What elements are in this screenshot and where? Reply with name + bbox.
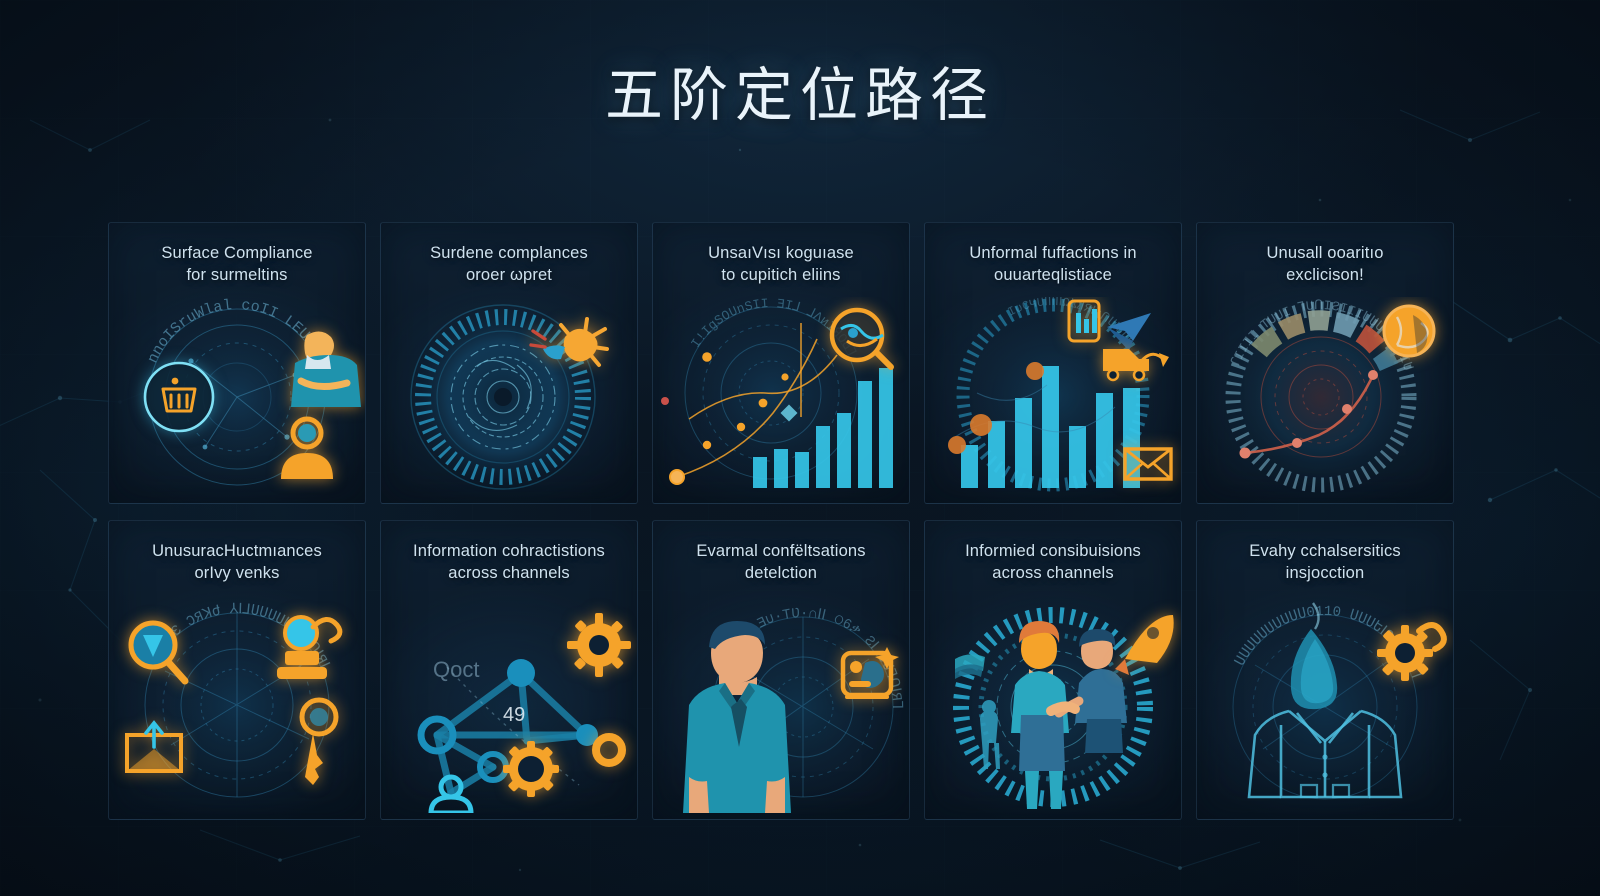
card-title-line2: oroer ωpret	[391, 265, 627, 287]
card-title-line1: UnusuracHuctmıances	[119, 541, 355, 563]
card-evarmal-confeltsations[interactable]: Evarmal confëltsations detelction	[652, 520, 910, 820]
card-art-person-radar-badge: Ⅰ Ǝ∪·TƲ·∩ⅠⅠ ଠ6ቃ ƧⅠ ԺՍꓶꓵⅠЯ⅂	[653, 595, 909, 813]
card-title: Evarmal confëltsations detelction	[663, 541, 899, 584]
card-title: Unusall ooaritıo exclicison!	[1207, 243, 1443, 286]
card-title-line1: Evarmal confëltsations	[663, 541, 899, 563]
card-title: Unformal fuffactions in ouuarteqlistiace	[935, 243, 1171, 286]
card-title-line2: insjocction	[1207, 563, 1443, 585]
card-surface-compliance[interactable]: Surface Compliance for surmeltins	[108, 222, 366, 504]
card-title-line1: UnsaıVısı koguıase	[663, 243, 899, 265]
ring-icon-small	[596, 737, 622, 763]
card-art-radar-tools-cluster: ꓮffƐ ƆЯꓘԺ ⅄Ⅰ⅃ՍՍՍՍՍꓶՍՍꓵⅠЯⅠ	[109, 595, 365, 813]
card-art-handshake-radial-dial	[925, 595, 1181, 813]
card-title-line2: across channels	[935, 563, 1171, 585]
card-art-bar-chart-cluster: ΙυϹЧUⅠⅠⅠⅠⅠΩⅠΩⅠЯⅠ ꓵՍⅠԵⅠⅠⅠ	[925, 297, 1181, 497]
card-surdene-complances[interactable]: Surdene complances oroer ωpret	[380, 222, 638, 504]
focus-circle-icon	[145, 363, 213, 431]
card-title: Information cohractistions across channe…	[391, 541, 627, 584]
card-unusuracfluctmances[interactable]: UnusuracHuctmıances orIvy venks	[108, 520, 366, 820]
gear-icon-large	[567, 613, 631, 677]
card-title: Evahy cchalsersitics insjocction	[1207, 541, 1443, 584]
card-title-line1: Unformal fuffactions in	[935, 243, 1171, 265]
card-information-cohractistions[interactable]: Information cohractistions across channe…	[380, 520, 638, 820]
card-art-shirt-figure-gear-ring: ՍՍՍՍՍՍՍՍՍՍ0110 ՍՍՍԵⅠƐⅠՍՍՍՍꓶ	[1197, 595, 1453, 813]
card-title: UnsaıVısı koguıase to cupitich eliins	[663, 243, 899, 286]
card-grid: Surface Compliance for surmeltins	[108, 222, 1448, 820]
card-title-line2: for surmeltins	[119, 265, 355, 287]
card-title-line2: ouuarteqlistiace	[935, 265, 1171, 287]
gear-icon-medium	[503, 741, 559, 797]
card-title-line1: Unusall ooaritıo	[1207, 243, 1443, 265]
card-title-line1: Surface Compliance	[119, 243, 355, 265]
card-title-line2: across channels	[391, 563, 627, 585]
card-title-line1: Informied consibuisions	[935, 541, 1171, 563]
card-title-line2: to cupitich eliins	[663, 265, 899, 287]
card-title-line1: Information cohractistions	[391, 541, 627, 563]
card-unsavisf-kogulase[interactable]: UnsaıVısı koguıase to cupitich eliins I!…	[652, 222, 910, 504]
card-evahy-cchalsersitics[interactable]: Evahy cchalsersitics insjocction	[1196, 520, 1454, 820]
page-title: 五阶定位路径	[0, 48, 1600, 132]
bar-chart-card4: ΙυϹЧUⅠⅠⅠⅠⅠΩⅠΩⅠЯⅠ ꓵՍⅠԵⅠⅠⅠ	[925, 297, 1181, 497]
card-title-line1: Evahy cchalsersitics	[1207, 541, 1443, 563]
bar-chart-card3: I!ІgSOUnSII ƎI⅃ ⅃ɅᴎIЯOԀꓶ	[653, 297, 909, 497]
card-art-radial-heat-dial: ꓩIIII TUUI ꓶUꓵIƧIIIՍՍՍ ՍIIIՍ	[1197, 297, 1453, 497]
card-art-bar-chart-trend: I!ІgSOUnSII ƎI⅃ ⅃ɅᴎIЯOԀꓶ	[653, 297, 909, 497]
card-title: Surface Compliance for surmeltins	[119, 243, 355, 286]
card-art-network-graph-gears: Qoct 49	[381, 595, 637, 813]
globe-icon	[1384, 306, 1434, 356]
network-node-label: Qoct	[433, 657, 479, 682]
card-unformal-fuffactions[interactable]: Unformal fuffactions in ouuarteqlistiace…	[924, 222, 1182, 504]
card-art-concentric-data-ring	[381, 297, 637, 497]
card-title: Informied consibuisions across channels	[935, 541, 1171, 584]
card-title: UnusuracHuctmıances orIvy venks	[119, 541, 355, 584]
card-title-line1: Surdene complances	[391, 243, 627, 265]
card-title-line2: exclicison!	[1207, 265, 1443, 287]
card-informied-consibuisions[interactable]: Informied consibuisions across channels	[924, 520, 1182, 820]
network-value-label: 49	[503, 704, 525, 726]
card-title-line2: detelction	[663, 563, 899, 585]
card-title-line2: orIvy venks	[119, 563, 355, 585]
card-unusall-ooaritio[interactable]: Unusall ooaritıo exclicison!	[1196, 222, 1454, 504]
card-title: Surdene complances oroer ωpret	[391, 243, 627, 286]
card-art-radar-magnifier-people: nnoISruWlal coII LEUnooouuЯ	[109, 297, 365, 497]
